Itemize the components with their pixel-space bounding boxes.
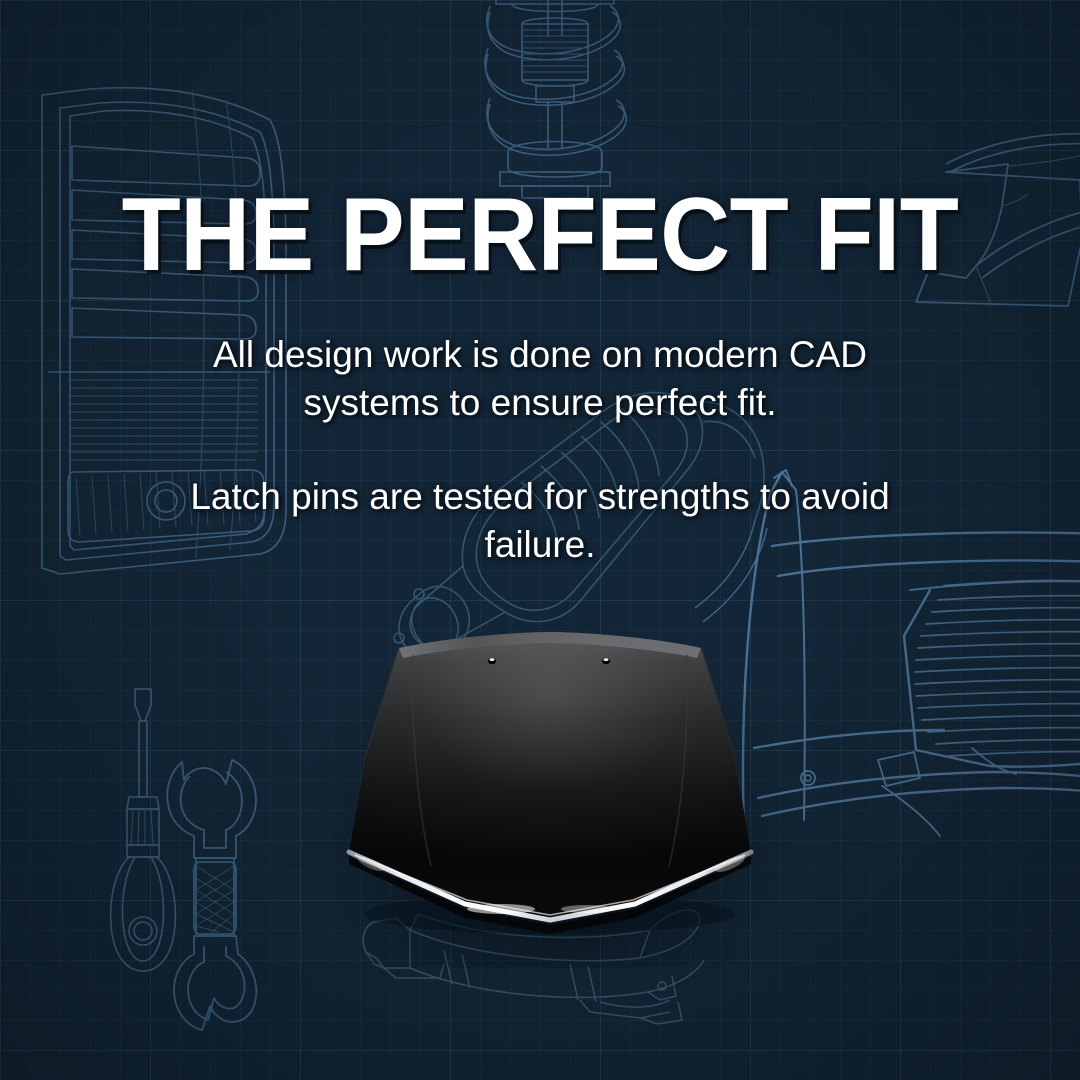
latch-pin-hole-left (488, 658, 496, 664)
body-paragraph-2: Latch pins are tested for strengths to a… (170, 473, 910, 569)
promo-canvas: THE PERFECT FIT All design work is done … (0, 0, 1080, 1080)
latch-pin-hole-right (602, 658, 610, 664)
product-image-car-hood (335, 628, 765, 938)
car-hood-svg (335, 628, 765, 938)
open-end-wrench-art (160, 740, 270, 1040)
screwdriver-art (105, 685, 195, 1005)
page-title: THE PERFECT FIT (38, 183, 1042, 287)
body-paragraph-1: All design work is done on modern CAD sy… (170, 331, 910, 427)
